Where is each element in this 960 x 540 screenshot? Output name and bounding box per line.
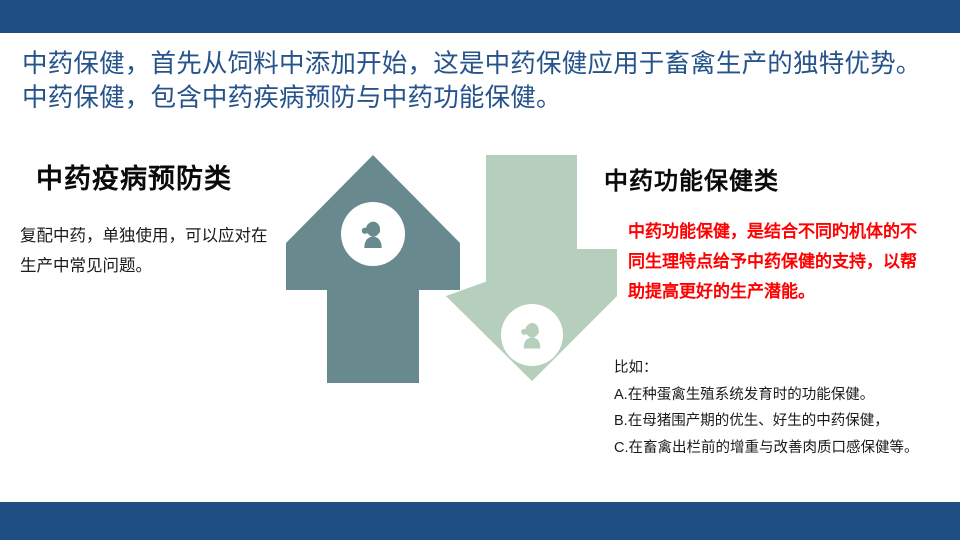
right-section-heading: 中药功能保健类 [604, 161, 779, 196]
title-line-2: 中药保健，包含中药疾病预防与中药功能保健。 [22, 81, 942, 115]
slide-title: 中药保健，首先从饲料中添加开始，这是中药保健应用于畜禽生产的独特优势。 中药保健… [22, 47, 942, 115]
right-example-list: 比如： A.在种蛋禽生殖系统发育时的功能保健。 B.在母猪围产期的优生、好生的中… [614, 355, 954, 461]
person-headset-icon [362, 222, 382, 248]
list-item: B.在母猪围产期的优生、好生的中药保健， [614, 408, 954, 435]
arrow-down-icon [446, 155, 617, 381]
list-item: C.在畜禽出栏前的增重与改善肉质口感保健等。 [614, 435, 954, 462]
title-line-1: 中药保健，首先从饲料中添加开始，这是中药保健应用于畜禽生产的独特优势。 [22, 47, 942, 81]
right-section-highlight: 中药功能保健，是结合不同旳机体的不同生理特点给予中药保健的支持，以帮助提高更好的… [628, 217, 928, 307]
left-section-body: 复配中药，单独使用，可以应对在生产中常见问题。 [20, 221, 272, 281]
top-accent-bar [0, 0, 960, 33]
list-item: A.在种蛋禽生殖系统发育时的功能保健。 [614, 382, 954, 409]
arrow-up-icon [286, 155, 460, 383]
list-intro: 比如： [614, 355, 954, 382]
slide-canvas: 中药保健，首先从饲料中添加开始，这是中药保健应用于畜禽生产的独特优势。 中药保健… [0, 0, 960, 540]
left-section-heading: 中药疫病预防类 [36, 157, 232, 196]
person-headset-icon [521, 323, 540, 348]
bottom-accent-bar [0, 502, 960, 540]
